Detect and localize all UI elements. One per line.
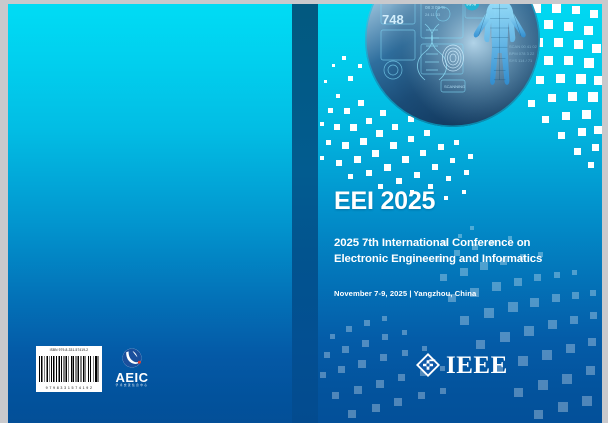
conference-subtitle: 2025 7th International Conference on Ele… [334, 236, 584, 267]
isbn-label: ISBN 979-8-331-57419-2 [50, 348, 89, 352]
svg-text:SCAN 00 41 02: SCAN 00 41 02 [509, 44, 538, 49]
svg-text:08 3 08 %: 08 3 08 % [425, 5, 445, 10]
barcode-digits: 9 7 9 8 3 3 1 5 7 4 1 9 2 [46, 386, 93, 390]
front-cover-panel: 748 11 02 19 07 08 3 08 % 24 11 33 99% [318, 4, 602, 423]
hero-circle-image: 748 11 02 19 07 08 3 08 % 24 11 33 99% [365, 4, 540, 127]
hero-illustration-icon: 748 11 02 19 07 08 3 08 % 24 11 33 99% [365, 4, 540, 127]
svg-text:748: 748 [382, 12, 404, 27]
svg-text:SCANNING: SCANNING [444, 84, 465, 89]
aeic-swoosh-icon [120, 348, 144, 370]
ieee-diamond-icon [415, 352, 441, 378]
svg-text:SYS 114 / 71: SYS 114 / 71 [509, 58, 533, 63]
back-cover-panel: ISBN 979-8-331-57419-2 9 7 9 8 3 3 1 5 7… [8, 4, 292, 423]
conference-subtitle-line1: 2025 7th International Conference on [334, 236, 584, 252]
conference-subtitle-line2: Electronic Engineering and Informatics [334, 252, 584, 268]
ieee-logo: IEEE [415, 352, 508, 378]
conference-date-location: November 7-9, 2025 | Yangzhou, China [334, 289, 476, 298]
ieee-wordmark: IEEE [446, 353, 508, 378]
isbn-barcode: ISBN 979-8-331-57419-2 9 7 9 8 3 3 1 5 7… [36, 346, 102, 392]
barcode-bars-icon [39, 356, 99, 382]
aeic-wordmark: AEIC [115, 371, 148, 384]
aeic-subtext: 学术交流信息中心 [116, 384, 149, 388]
aeic-logo: AEIC 学术交流信息中心 [111, 348, 153, 390]
conference-title: EEI 2025 [334, 187, 435, 215]
book-spine [292, 4, 318, 423]
svg-text:24 11 33: 24 11 33 [425, 12, 441, 17]
svg-text:99%: 99% [466, 4, 477, 8]
book-cover-canvas: ISBN 979-8-331-57419-2 9 7 9 8 3 3 1 5 7… [0, 0, 608, 423]
svg-text:BPM 078 3 22: BPM 078 3 22 [509, 51, 535, 56]
